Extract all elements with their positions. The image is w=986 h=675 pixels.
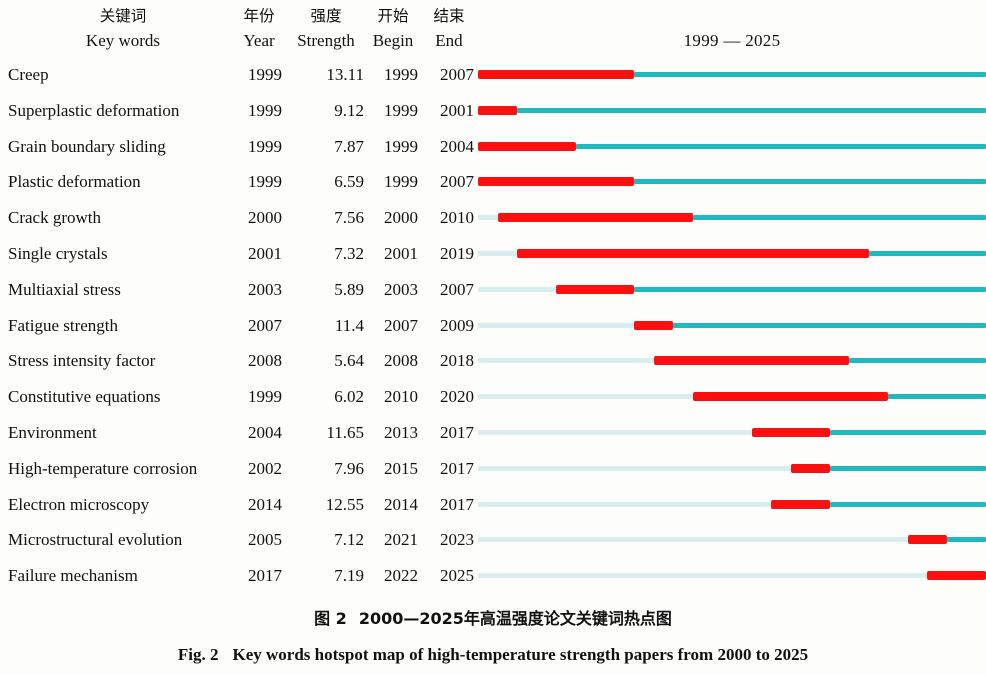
row-keyword: Creep xyxy=(8,57,234,93)
burst-timeline-track xyxy=(478,558,986,594)
burst-bar xyxy=(478,177,634,186)
timeline-segment-after-burst xyxy=(634,287,986,292)
timeline-segment-before-burst xyxy=(478,251,517,256)
burst-bar xyxy=(752,428,830,437)
row-year: 2017 xyxy=(236,558,282,594)
timeline-segment-before-burst xyxy=(478,502,771,507)
burst-timeline-track xyxy=(478,129,986,165)
table-row: Plastic deformation19996.5919992007 xyxy=(0,164,986,200)
timeline-segment-before-burst xyxy=(478,573,927,578)
row-end: 2017 xyxy=(424,415,474,451)
timeline-segment-after-burst xyxy=(830,502,986,507)
timeline-segment-before-burst xyxy=(478,430,752,435)
table-row: Failure mechanism20177.1920222025 xyxy=(0,558,986,594)
timeline-segment-before-burst xyxy=(478,394,693,399)
timeline-segment-before-burst xyxy=(478,215,498,220)
row-strength: 7.87 xyxy=(288,129,364,165)
row-begin: 1999 xyxy=(368,57,418,93)
burst-bar xyxy=(908,535,947,544)
row-strength: 5.64 xyxy=(288,343,364,379)
row-year: 1999 xyxy=(236,57,282,93)
row-begin: 1999 xyxy=(368,164,418,200)
row-end: 2001 xyxy=(424,93,474,129)
row-keyword: Failure mechanism xyxy=(8,558,234,594)
timeline-segment-after-burst xyxy=(634,179,986,184)
row-strength: 7.56 xyxy=(288,200,364,236)
row-year: 1999 xyxy=(236,129,282,165)
row-strength: 6.59 xyxy=(288,164,364,200)
row-begin: 2015 xyxy=(368,451,418,487)
row-strength: 6.02 xyxy=(288,379,364,415)
row-keyword: Plastic deformation xyxy=(8,164,234,200)
burst-bar xyxy=(478,142,576,151)
row-keyword: Superplastic deformation xyxy=(8,93,234,129)
timeline-segment-before-burst xyxy=(478,287,556,292)
timeline-segment-before-burst xyxy=(478,323,634,328)
burst-bar xyxy=(634,321,673,330)
figure-caption-en-text: Key words hotspot map of high-temperatur… xyxy=(233,645,809,664)
burst-timeline-track xyxy=(478,451,986,487)
burst-timeline-track xyxy=(478,343,986,379)
row-end: 2017 xyxy=(424,487,474,523)
burst-timeline-track xyxy=(478,308,986,344)
timeline-segment-after-burst xyxy=(693,215,986,220)
row-keyword: Grain boundary sliding xyxy=(8,129,234,165)
figure-number-en: Fig. 2 xyxy=(178,645,219,664)
timeline-range-label: 1999 — 2025 xyxy=(478,31,986,51)
timeline-segment-after-burst xyxy=(830,430,986,435)
row-end: 2018 xyxy=(424,343,474,379)
timeline-segment-after-burst xyxy=(888,394,986,399)
burst-timeline-track xyxy=(478,415,986,451)
row-strength: 7.32 xyxy=(288,236,364,272)
table-header: 关键词 Key words 年份 Year 强度 Strength 开始 Beg… xyxy=(0,0,986,58)
column-header-keyword-cn: 关键词 xyxy=(12,4,234,26)
burst-bar xyxy=(517,249,869,258)
table-row: Single crystals20017.3220012019 xyxy=(0,236,986,272)
burst-bar xyxy=(478,106,517,115)
burst-timeline-track xyxy=(478,487,986,523)
row-year: 2001 xyxy=(236,236,282,272)
row-begin: 2001 xyxy=(368,236,418,272)
figure-number-cn: 图 2 xyxy=(314,609,347,628)
table-row: Creep199913.1119992007 xyxy=(0,57,986,93)
row-begin: 2010 xyxy=(368,379,418,415)
row-begin: 1999 xyxy=(368,93,418,129)
column-header-year-cn: 年份 xyxy=(236,4,282,26)
timeline-segment-after-burst xyxy=(869,251,986,256)
row-keyword: Multiaxial stress xyxy=(8,272,234,308)
row-year: 2008 xyxy=(236,343,282,379)
row-end: 2020 xyxy=(424,379,474,415)
figure-caption-en: Fig. 2Key words hotspot map of high-temp… xyxy=(0,645,986,665)
row-keyword: Electron microscopy xyxy=(8,487,234,523)
timeline-segment-after-burst xyxy=(849,358,986,363)
column-header-end-cn: 结束 xyxy=(424,4,474,26)
citation-burst-figure: 关键词 Key words 年份 Year 强度 Strength 开始 Beg… xyxy=(0,0,986,675)
burst-timeline-track xyxy=(478,93,986,129)
row-year: 2004 xyxy=(236,415,282,451)
timeline-segment-after-burst xyxy=(576,144,986,149)
burst-timeline-track xyxy=(478,236,986,272)
row-year: 1999 xyxy=(236,164,282,200)
column-header-begin-cn: 开始 xyxy=(368,4,418,26)
table-row: Multiaxial stress20035.8920032007 xyxy=(0,272,986,308)
row-strength: 13.11 xyxy=(288,57,364,93)
figure-caption-cn-text: 2000—2025年高温强度论文关键词热点图 xyxy=(359,609,672,628)
row-strength: 11.65 xyxy=(288,415,364,451)
row-strength: 5.89 xyxy=(288,272,364,308)
column-header-year-en: Year xyxy=(236,31,282,51)
row-begin: 2003 xyxy=(368,272,418,308)
row-strength: 11.4 xyxy=(288,308,364,344)
row-strength: 7.12 xyxy=(288,522,364,558)
burst-timeline-track xyxy=(478,57,986,93)
burst-bar xyxy=(693,392,888,401)
column-header-keyword-en: Key words xyxy=(12,31,234,51)
table-row: Crack growth20007.5620002010 xyxy=(0,200,986,236)
row-end: 2010 xyxy=(424,200,474,236)
burst-timeline-track xyxy=(478,272,986,308)
row-begin: 2013 xyxy=(368,415,418,451)
row-end: 2023 xyxy=(424,522,474,558)
burst-timeline-track xyxy=(478,379,986,415)
row-begin: 2007 xyxy=(368,308,418,344)
row-end: 2025 xyxy=(424,558,474,594)
column-header-strength-cn: 强度 xyxy=(288,4,364,26)
table-row: Grain boundary sliding19997.8719992004 xyxy=(0,129,986,165)
column-header-begin-en: Begin xyxy=(368,31,418,51)
burst-bar xyxy=(556,285,634,294)
row-strength: 9.12 xyxy=(288,93,364,129)
figure-caption-cn: 图 22000—2025年高温强度论文关键词热点图 xyxy=(0,605,986,629)
row-keyword: Fatigue strength xyxy=(8,308,234,344)
table-row: Fatigue strength200711.420072009 xyxy=(0,308,986,344)
burst-bar xyxy=(927,571,986,580)
row-keyword: Stress intensity factor xyxy=(8,343,234,379)
row-end: 2004 xyxy=(424,129,474,165)
timeline-segment-before-burst xyxy=(478,537,908,542)
row-year: 1999 xyxy=(236,379,282,415)
burst-bar xyxy=(498,213,693,222)
row-begin: 1999 xyxy=(368,129,418,165)
row-strength: 7.19 xyxy=(288,558,364,594)
row-year: 2007 xyxy=(236,308,282,344)
row-keyword: Constitutive equations xyxy=(8,379,234,415)
row-keyword: Crack growth xyxy=(8,200,234,236)
table-row: Microstructural evolution20057.122021202… xyxy=(0,522,986,558)
table-row: High-temperature corrosion20027.96201520… xyxy=(0,451,986,487)
timeline-segment-after-burst xyxy=(830,466,986,471)
timeline-segment-after-burst xyxy=(634,72,986,77)
table-row: Constitutive equations19996.0220102020 xyxy=(0,379,986,415)
timeline-segment-before-burst xyxy=(478,466,791,471)
row-keyword: High-temperature corrosion xyxy=(8,451,234,487)
row-year: 2003 xyxy=(236,272,282,308)
row-strength: 12.55 xyxy=(288,487,364,523)
column-header-end-en: End xyxy=(424,31,474,51)
row-keyword: Single crystals xyxy=(8,236,234,272)
row-end: 2007 xyxy=(424,272,474,308)
timeline-segment-before-burst xyxy=(478,358,654,363)
row-year: 1999 xyxy=(236,93,282,129)
burst-timeline-track xyxy=(478,200,986,236)
row-end: 2007 xyxy=(424,164,474,200)
row-begin: 2022 xyxy=(368,558,418,594)
row-year: 2014 xyxy=(236,487,282,523)
row-keyword: Microstructural evolution xyxy=(8,522,234,558)
timeline-segment-after-burst xyxy=(517,108,986,113)
row-year: 2002 xyxy=(236,451,282,487)
burst-timeline-track xyxy=(478,522,986,558)
table-row: Stress intensity factor20085.6420082018 xyxy=(0,343,986,379)
row-end: 2017 xyxy=(424,451,474,487)
row-begin: 2000 xyxy=(368,200,418,236)
row-begin: 2008 xyxy=(368,343,418,379)
row-end: 2019 xyxy=(424,236,474,272)
timeline-segment-after-burst xyxy=(947,537,986,542)
row-year: 2005 xyxy=(236,522,282,558)
table-row: Superplastic deformation19999.1219992001 xyxy=(0,93,986,129)
row-end: 2009 xyxy=(424,308,474,344)
row-end: 2007 xyxy=(424,57,474,93)
table-row: Electron microscopy201412.5520142017 xyxy=(0,487,986,523)
burst-timeline-track xyxy=(478,164,986,200)
row-begin: 2014 xyxy=(368,487,418,523)
table-row: Environment200411.6520132017 xyxy=(0,415,986,451)
burst-bar xyxy=(654,356,849,365)
burst-bar xyxy=(771,500,830,509)
timeline-segment-after-burst xyxy=(673,323,986,328)
row-begin: 2021 xyxy=(368,522,418,558)
burst-bar xyxy=(478,70,634,79)
burst-bar xyxy=(791,464,830,473)
column-header-strength-en: Strength xyxy=(288,31,364,51)
row-strength: 7.96 xyxy=(288,451,364,487)
row-keyword: Environment xyxy=(8,415,234,451)
row-year: 2000 xyxy=(236,200,282,236)
